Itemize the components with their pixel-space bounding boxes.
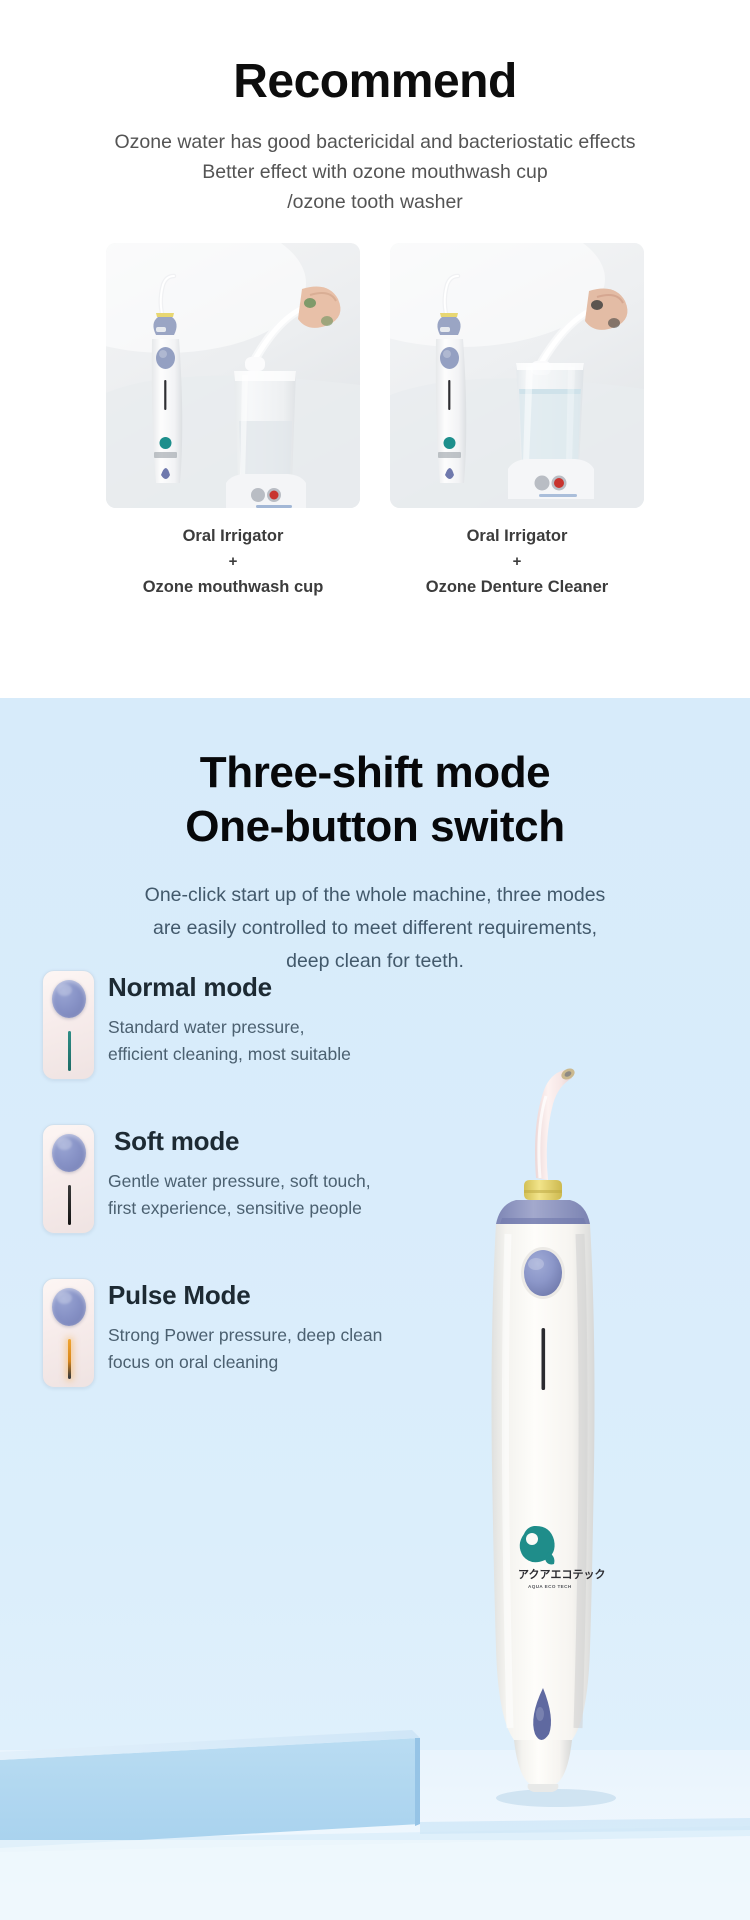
recommend-subtitle: Ozone water has good bactericidal and ba… <box>0 127 750 218</box>
product-photo-denture-cleaner <box>390 243 644 508</box>
power-button-icon <box>52 1134 86 1172</box>
caption-line-1: Oral Irrigator <box>390 523 644 550</box>
modes-heading-line-2: One-button switch <box>0 800 750 854</box>
power-button-icon <box>52 1288 86 1326</box>
mode-name: Normal mode <box>108 972 351 1003</box>
mode-description-line-1: Strong Power pressure, deep clean <box>108 1322 382 1349</box>
modes-description-line-1: One-click start up of the whole machine,… <box>0 879 750 912</box>
mode-text-pulse: Pulse Mode Strong Power pressure, deep c… <box>108 1278 382 1375</box>
mode-description-line-1: Gentle water pressure, soft touch, <box>108 1168 371 1195</box>
recommend-subtitle-line-2: Better effect with ozone mouthwash cup <box>0 157 750 187</box>
caption-line-1: Oral Irrigator <box>106 523 360 550</box>
mode-item-pulse[interactable]: Pulse Mode Strong Power pressure, deep c… <box>42 1278 472 1388</box>
indicator-line-icon <box>68 1031 71 1071</box>
mode-text-soft: Soft mode Gentle water pressure, soft to… <box>108 1124 371 1221</box>
modes-heading-line-1: Three-shift mode <box>0 746 750 800</box>
mode-description-line-2: first experience, sensitive people <box>108 1195 371 1222</box>
mode-item-soft[interactable]: Soft mode Gentle water pressure, soft to… <box>42 1124 472 1234</box>
power-button-icon <box>52 980 86 1018</box>
mode-switch-icon-pulse <box>42 1278 95 1388</box>
mode-switch-icon-normal <box>42 970 95 1080</box>
recommend-subtitle-line-3: /ozone tooth washer <box>0 187 750 217</box>
recommend-subtitle-line-1: Ozone water has good bactericidal and ba… <box>0 127 750 157</box>
recommend-card-1: Oral Irrigator + Ozone mouthwash cup <box>106 243 360 601</box>
mode-text-normal: Normal mode Standard water pressure, eff… <box>108 970 351 1067</box>
recommend-card-2: Oral Irrigator + Ozone Denture Cleaner <box>390 243 644 601</box>
mode-item-normal[interactable]: Normal mode Standard water pressure, eff… <box>42 970 472 1080</box>
indicator-line-icon <box>68 1339 71 1379</box>
recommend-card-list: Oral Irrigator + Ozone mouthwash cup <box>0 243 750 601</box>
product-render-oral-irrigator: アクアエコテック AQUA ECO TECH <box>440 1028 670 1828</box>
svg-text:AQUA ECO TECH: AQUA ECO TECH <box>528 1584 572 1589</box>
product-photo-mouthwash-cup <box>106 243 360 508</box>
mode-description-line-2: focus on oral cleaning <box>108 1349 382 1376</box>
modes-description-line-2: are easily controlled to meet different … <box>0 912 750 945</box>
mode-description: Strong Power pressure, deep clean focus … <box>108 1322 382 1375</box>
recommend-card-1-caption: Oral Irrigator + Ozone mouthwash cup <box>106 523 360 601</box>
page-title: Recommend <box>0 54 750 111</box>
three-shift-mode-section: Three-shift mode One-button switch One-c… <box>0 698 750 1920</box>
modes-description: One-click start up of the whole machine,… <box>0 879 750 977</box>
caption-line-2: Ozone Denture Cleaner <box>390 574 644 601</box>
caption-plus: + <box>106 550 360 574</box>
mode-description-line-1: Standard water pressure, <box>108 1014 351 1041</box>
indicator-line-icon <box>68 1185 71 1225</box>
mode-name: Pulse Mode <box>108 1280 382 1311</box>
svg-text:アクアエコテック: アクアエコテック <box>518 1568 605 1581</box>
mode-description-line-2: efficient cleaning, most suitable <box>108 1041 351 1068</box>
mode-list: Normal mode Standard water pressure, eff… <box>42 970 472 1388</box>
recommend-section: Recommend Ozone water has good bacterici… <box>0 0 750 698</box>
mode-description: Standard water pressure, efficient clean… <box>108 1014 351 1067</box>
mode-name: Soft mode <box>108 1126 371 1157</box>
modes-heading: Three-shift mode One-button switch <box>0 698 750 853</box>
recommend-card-2-caption: Oral Irrigator + Ozone Denture Cleaner <box>390 523 644 601</box>
caption-line-2: Ozone mouthwash cup <box>106 574 360 601</box>
mode-description: Gentle water pressure, soft touch, first… <box>108 1168 371 1221</box>
caption-plus: + <box>390 550 644 574</box>
mode-switch-icon-soft <box>42 1124 95 1234</box>
